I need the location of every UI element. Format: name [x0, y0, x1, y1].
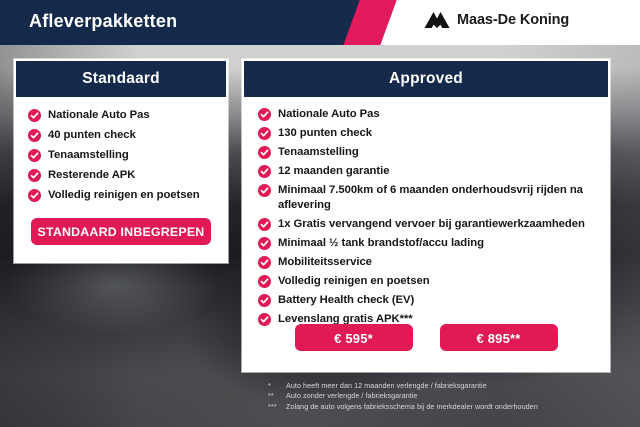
footnote-text: Auto zonder verlengde / fabrieksgarantie — [286, 391, 628, 401]
feature-label: Tenaamstelling — [48, 148, 129, 163]
footnotes: * Auto heeft meer dan 12 maanden verleng… — [268, 381, 628, 412]
list-item: Minimaal 7.500km of 6 maanden onderhouds… — [258, 183, 600, 213]
check-circle-icon — [258, 165, 271, 178]
list-item: Tenaamstelling — [28, 148, 220, 163]
feature-label: 130 punten check — [278, 126, 372, 141]
card-title-standaard: Standaard — [16, 61, 226, 97]
price-button-row: € 595* € 895** — [242, 324, 610, 351]
brand-name: Maas-De Koning — [457, 12, 569, 28]
check-circle-icon — [28, 109, 41, 122]
list-item: Tenaamstelling — [258, 145, 600, 160]
maas-de-koning-m-logo-icon — [424, 11, 450, 29]
list-item: Battery Health check (EV) — [258, 293, 600, 308]
feature-label: Battery Health check (EV) — [278, 293, 414, 308]
list-item: Mobiliteitsservice — [258, 255, 600, 270]
footnote-row: * Auto heeft meer dan 12 maanden verleng… — [268, 381, 628, 391]
check-circle-icon — [28, 149, 41, 162]
footnote-marker: ** — [268, 391, 286, 401]
footnote-marker: *** — [268, 402, 286, 412]
list-item: Minimaal ½ tank brandstof/accu lading — [258, 236, 600, 251]
check-circle-icon — [28, 129, 41, 142]
footnote-marker: * — [268, 381, 286, 391]
price-button-895[interactable]: € 895** — [440, 324, 558, 351]
feature-label: Minimaal 7.500km of 6 maanden onderhouds… — [278, 183, 590, 213]
check-circle-icon — [258, 108, 271, 121]
feature-label: 40 punten check — [48, 128, 136, 143]
page-header: Afleverpakketten Maas-De Koning — [0, 0, 640, 45]
check-circle-icon — [258, 294, 271, 307]
feature-label: Nationale Auto Pas — [278, 107, 380, 122]
check-circle-icon — [258, 184, 271, 197]
check-circle-icon — [258, 237, 271, 250]
check-circle-icon — [258, 146, 271, 159]
brand-logo: Maas-De Koning — [424, 11, 569, 29]
list-item: 12 maanden garantie — [258, 164, 600, 179]
standaard-inbegrepen-button[interactable]: STANDAARD INBEGREPEN — [31, 218, 211, 245]
feature-list-standaard: Nationale Auto Pas 40 punten check Tenaa… — [14, 97, 228, 203]
feature-label: 12 maanden garantie — [278, 164, 389, 179]
footnote-row: *** Zolang de auto volgens fabrieksschem… — [268, 402, 628, 412]
footnote-text: Zolang de auto volgens fabrieksschema bi… — [286, 402, 628, 412]
feature-label: Volledig reinigen en poetsen — [278, 274, 430, 289]
list-item: 40 punten check — [28, 128, 220, 143]
list-item: 130 punten check — [258, 126, 600, 141]
footnote-text: Auto heeft meer dan 12 maanden verlengde… — [286, 381, 628, 391]
check-circle-icon — [258, 218, 271, 231]
feature-label: 1x Gratis vervangend vervoer bij garanti… — [278, 217, 585, 232]
page-title: Afleverpakketten — [29, 11, 177, 32]
list-item: Volledig reinigen en poetsen — [28, 188, 220, 203]
promo-slide: Afleverpakketten Maas-De Koning Standaar… — [0, 0, 640, 427]
package-card-approved: Approved Nationale Auto Pas 130 punten c… — [242, 59, 610, 372]
feature-label: Mobiliteitsservice — [278, 255, 372, 270]
package-card-standaard: Standaard Nationale Auto Pas 40 punten c… — [14, 59, 228, 263]
check-circle-icon — [258, 256, 271, 269]
check-circle-icon — [28, 169, 41, 182]
feature-label: Volledig reinigen en poetsen — [48, 188, 200, 203]
price-button-595[interactable]: € 595* — [295, 324, 413, 351]
list-item: 1x Gratis vervangend vervoer bij garanti… — [258, 217, 600, 232]
list-item: Resterende APK — [28, 168, 220, 183]
feature-label: Minimaal ½ tank brandstof/accu lading — [278, 236, 484, 251]
check-circle-icon — [258, 127, 271, 140]
footnote-row: ** Auto zonder verlengde / fabrieksgaran… — [268, 391, 628, 401]
list-item: Nationale Auto Pas — [258, 107, 600, 122]
feature-label: Nationale Auto Pas — [48, 108, 150, 123]
card-title-approved: Approved — [244, 61, 608, 97]
feature-label: Resterende APK — [48, 168, 135, 183]
feature-label: Tenaamstelling — [278, 145, 359, 160]
check-circle-icon — [28, 189, 41, 202]
feature-list-approved: Nationale Auto Pas 130 punten check Tena… — [242, 97, 610, 327]
list-item: Volledig reinigen en poetsen — [258, 274, 600, 289]
check-circle-icon — [258, 275, 271, 288]
list-item: Nationale Auto Pas — [28, 108, 220, 123]
